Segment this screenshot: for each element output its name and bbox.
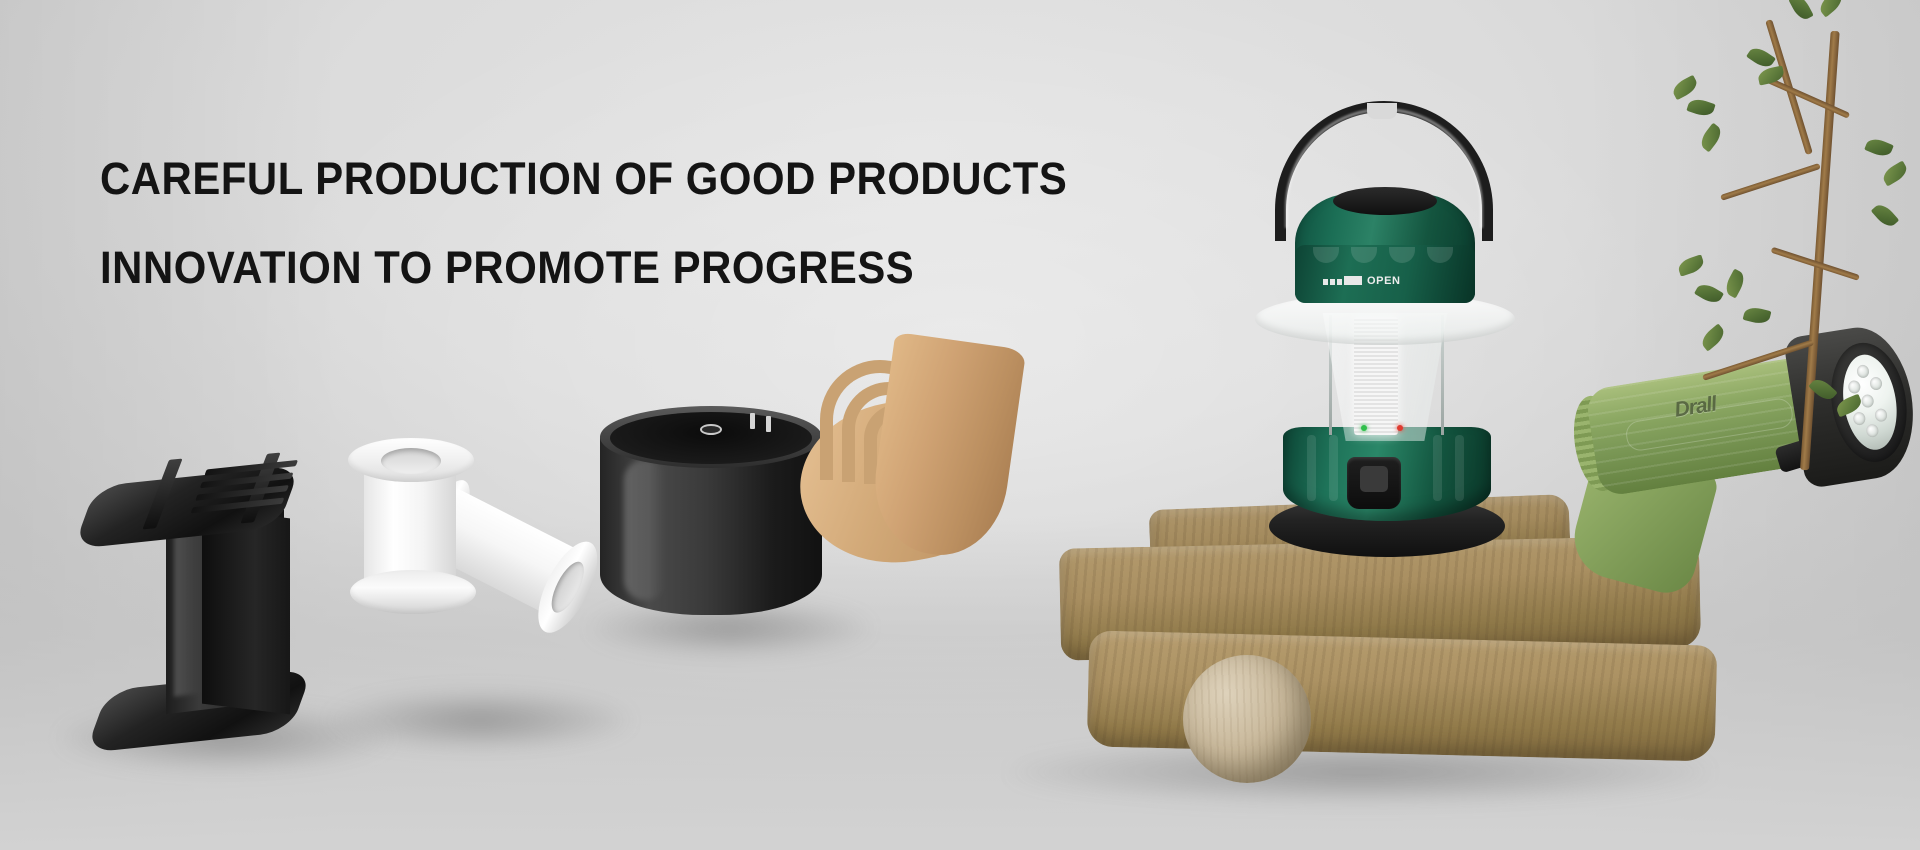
lantern-open-indicator: OPEN: [1323, 273, 1449, 288]
housing-inner-cavity: [610, 412, 812, 464]
bobbin-highlight: [174, 523, 200, 696]
product-camping-lantern: OPEN: [1245, 95, 1545, 575]
headline-line-2: INNOVATION TO PROMOTE PROGRESS: [100, 234, 937, 302]
branch-side-left-1: [1720, 163, 1821, 201]
branch-leaf: [1670, 75, 1700, 100]
headline-block: CAREFUL PRODUCTION OF GOOD PRODUCTS INNO…: [100, 145, 1000, 301]
branch-leaf: [1871, 201, 1900, 230]
lantern-handle-notch: [1367, 103, 1397, 119]
branch-leaf: [1788, 0, 1813, 22]
lantern-open-bars: [1323, 276, 1362, 285]
housing-notch-b: [766, 416, 771, 432]
log-front: [1087, 630, 1718, 761]
lantern-led-indicator-green: [1361, 425, 1367, 431]
branch-leaf: [1722, 269, 1747, 299]
decor-leafy-branch: [1660, 0, 1920, 490]
wooden-sphere: [1183, 655, 1311, 783]
housing-notch-a: [750, 413, 755, 429]
product-white-bobbins: [330, 420, 630, 760]
lantern-base-rib: [1307, 435, 1316, 501]
headline-line-1: CAREFUL PRODUCTION OF GOOD PRODUCTS: [100, 145, 937, 213]
branch-leaf: [1686, 96, 1715, 118]
standing-bobbin-bore: [381, 448, 441, 474]
bobbin-pin-row: [185, 454, 318, 530]
branch-leaf: [1694, 281, 1724, 307]
lantern-cap-top: [1333, 187, 1437, 215]
lantern-led-indicator-red: [1397, 425, 1403, 431]
product-black-housing: [600, 400, 840, 640]
lantern-battery-door[interactable]: [1347, 457, 1401, 509]
branch-leaf: [1816, 0, 1846, 18]
housing-center-post: [700, 424, 722, 435]
bobbin-pin: [191, 498, 285, 514]
bobbin-core-right: [202, 508, 290, 715]
lantern-switch-button[interactable]: [1360, 466, 1388, 492]
standing-bobbin-bottom-flange: [350, 570, 476, 614]
branch-side-left-2: [1702, 339, 1814, 381]
branch-leaf: [1743, 305, 1772, 326]
lantern-base-rib: [1455, 435, 1464, 501]
branch-leaf: [1698, 323, 1728, 351]
lantern-base-rib: [1433, 435, 1442, 501]
hero-banner: CAREFUL PRODUCTION OF GOOD PRODUCTS INNO…: [0, 0, 1920, 850]
branch-leaf: [1834, 394, 1864, 418]
lantern-open-label: OPEN: [1367, 275, 1401, 287]
housing-highlight: [624, 460, 666, 600]
branch-leaf: [1676, 254, 1705, 276]
branch-leaf: [1864, 136, 1894, 160]
lantern-base-rib: [1329, 435, 1338, 501]
branch-leaf: [1880, 161, 1910, 187]
branch-leaf: [1697, 123, 1725, 153]
white-bobbin-standing: [348, 430, 474, 615]
